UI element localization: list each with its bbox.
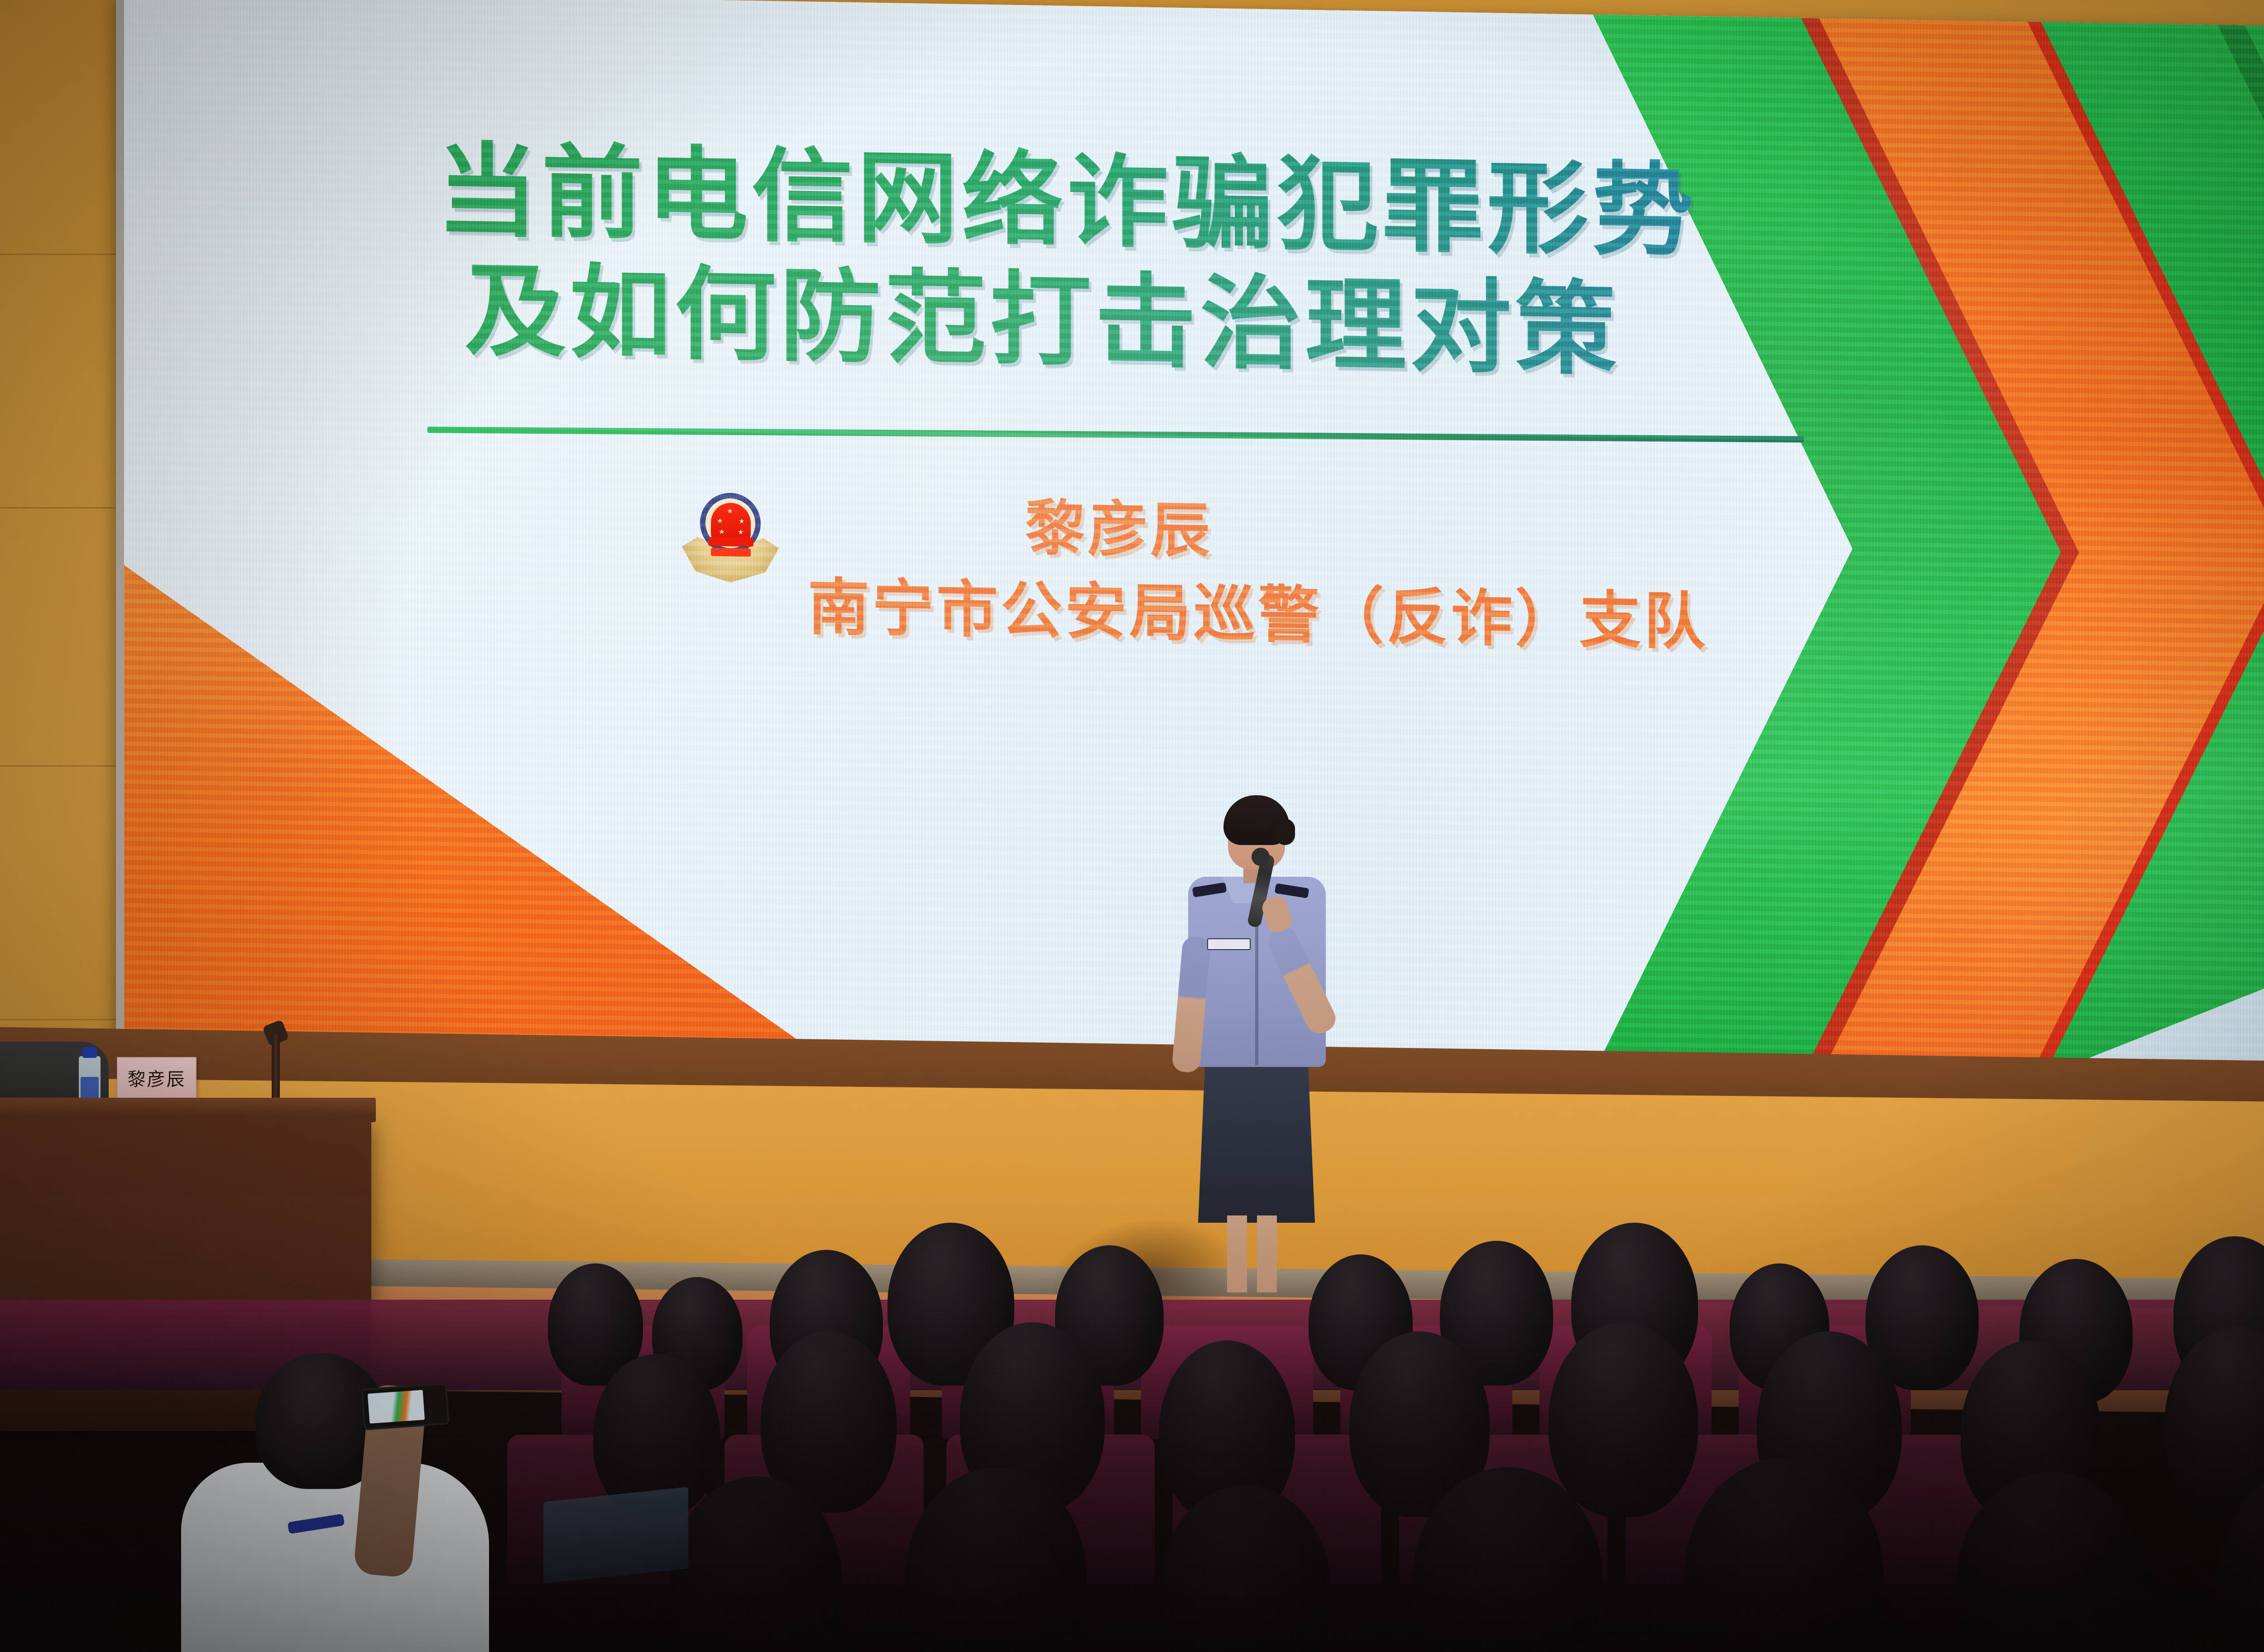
slide-presenter-name: 黎彦辰 <box>1025 495 1804 574</box>
slide-presenter-unit: 南宁市公安局巡警（反诈）支队 <box>808 573 1804 658</box>
badge-core <box>711 503 751 541</box>
smartphone-screen <box>368 1390 425 1423</box>
slide-title: 当前电信网络诈骗犯罪形势 及如何防范打击治理对策 <box>436 131 1885 395</box>
slide-byline: 黎彦辰 南宁市公安局巡警（反诈）支队 <box>808 491 1804 658</box>
badge-bar-lower <box>711 548 751 557</box>
slide-title-line-1: 当前电信网络诈骗犯罪形势 <box>436 131 1885 275</box>
police-badge-icon <box>682 490 779 586</box>
smartphone-icon <box>361 1383 450 1430</box>
attendee-laptop <box>543 1487 688 1584</box>
slide-content: 当前电信网络诈骗犯罪形势 及如何防范打击治理对策 <box>124 0 1872 1075</box>
badge-bar-upper <box>708 537 753 547</box>
speaker-hair-bun <box>1275 819 1295 845</box>
bottle-cap <box>82 1047 97 1058</box>
slide-title-line-2: 及如何防范打击治理对策 <box>465 251 1885 394</box>
auditorium-presentation-photo: 当前电信网络诈骗犯罪形势 及如何防范打击治理对策 <box>0 0 2264 1652</box>
microphone-head <box>1252 848 1270 866</box>
slide-title-divider <box>427 427 1804 442</box>
speaker-chest-badge <box>1207 938 1251 950</box>
attendee-white-shirt <box>181 1463 489 1652</box>
podium-nameplate: 黎彦辰 <box>117 1057 197 1099</box>
attendee-photographer <box>181 1349 507 1652</box>
